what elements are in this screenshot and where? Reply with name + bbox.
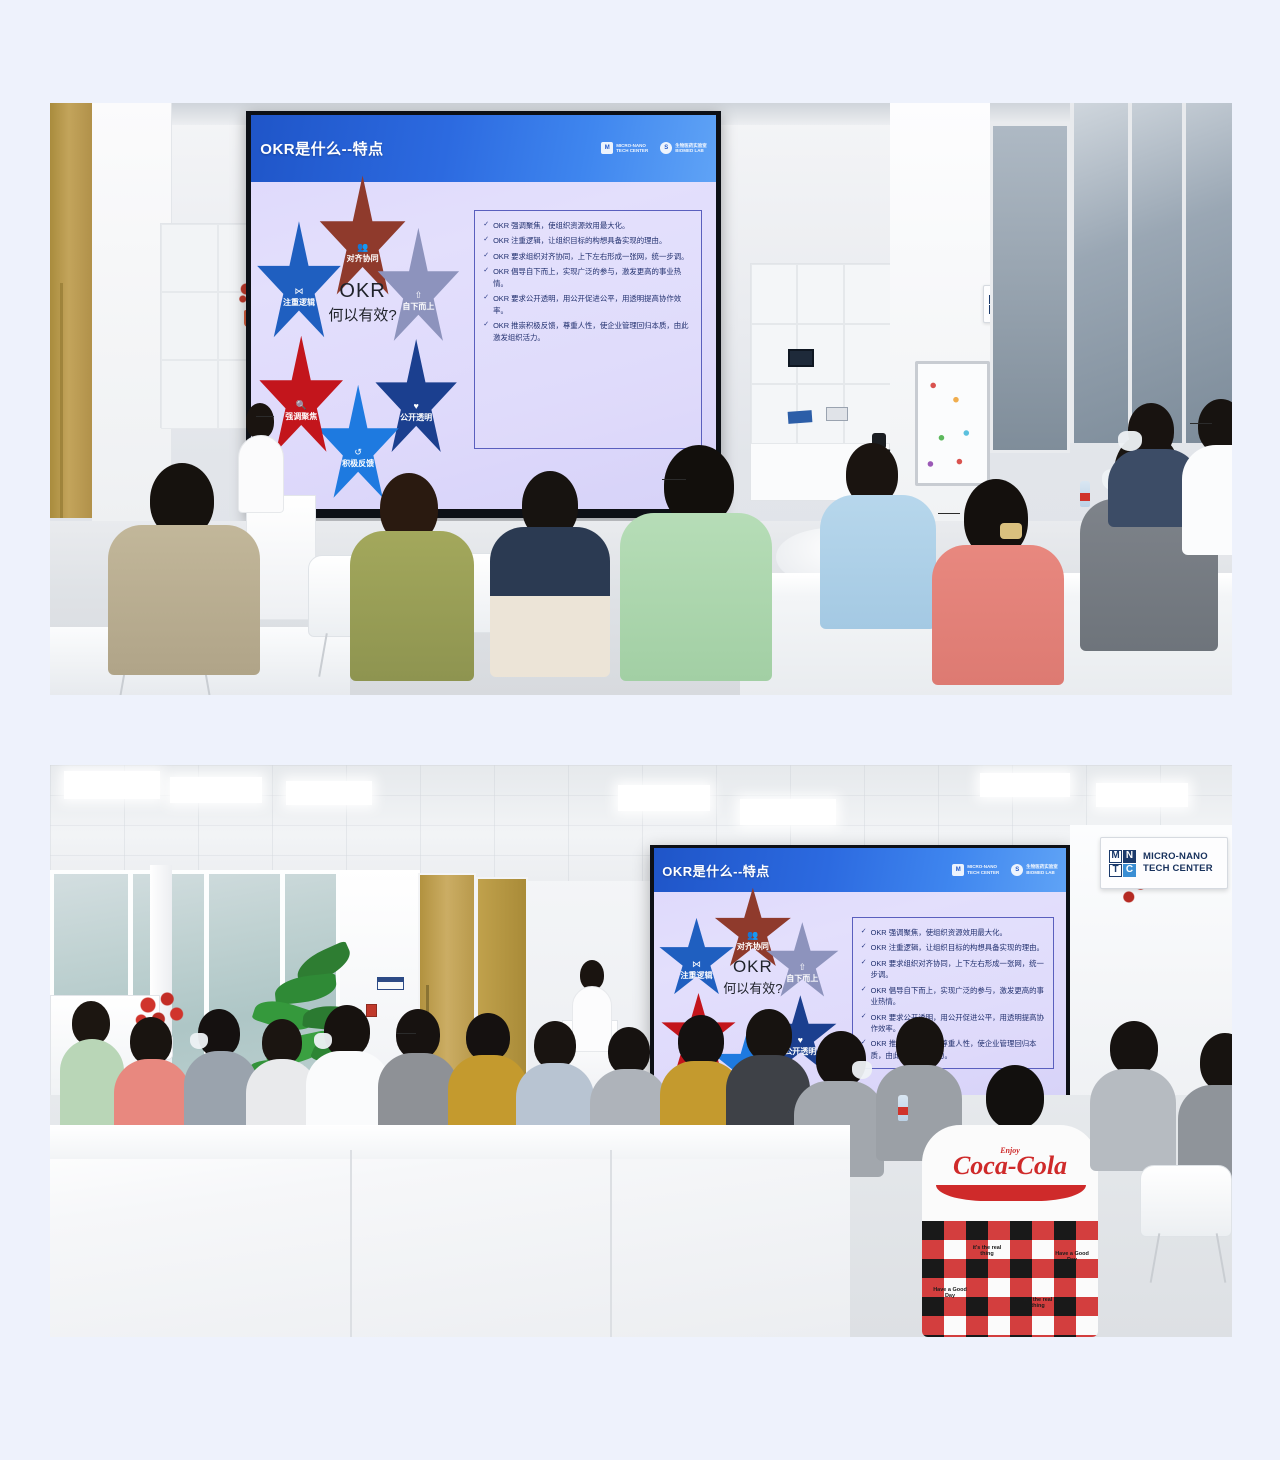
face-mask bbox=[1118, 431, 1142, 451]
jacket-tagline: Have a Good Day bbox=[1054, 1251, 1090, 1264]
coca-cola-logo: Enjoy Coca-Cola bbox=[930, 1147, 1090, 1179]
attendee-body bbox=[620, 513, 772, 681]
star-diagram-center: OKR 何以有效? bbox=[320, 280, 405, 325]
search-icon: 🔍 bbox=[296, 401, 307, 410]
slide-logo2-line2: BIOMED LAB bbox=[675, 148, 707, 154]
people-icon: 👥 bbox=[357, 243, 368, 252]
jacket-tagline: Have a Good Day bbox=[930, 1287, 970, 1300]
slide-logo-biomed-text: 生物医药实验室 BIOMED LAB bbox=[675, 143, 707, 155]
star-label: 自下而上 bbox=[786, 973, 818, 984]
corridor-sign bbox=[377, 977, 404, 990]
jacket-tagline: it's the real thing bbox=[1018, 1297, 1058, 1310]
glasses-icon bbox=[256, 416, 274, 421]
slide-header-logos: M MICRO-NANO TECH CENTER S 生物医药实验室 bbox=[601, 142, 707, 154]
attendee-body bbox=[108, 525, 260, 675]
bullet-item: ✓ OKR 要求组织对齐协同，上下左右形成一张网，统一步调。 bbox=[861, 958, 1045, 981]
attendee bbox=[820, 443, 936, 627]
checkerboard-pattern bbox=[922, 1221, 1098, 1337]
attendee-body bbox=[490, 527, 610, 677]
face-mask bbox=[314, 1033, 332, 1049]
bullet-text: OKR 倡导自下而上，实现广泛的参与，激发更高的事业热情。 bbox=[493, 266, 693, 289]
bullet-text: OKR 要求组织对齐协同，上下左右形成一张网，统一步调。 bbox=[871, 958, 1045, 981]
wooden-door-left bbox=[50, 103, 92, 518]
face-mask bbox=[852, 1061, 872, 1079]
attendee bbox=[114, 1017, 190, 1135]
biomed-mark-icon: S bbox=[660, 142, 672, 154]
ceiling-light bbox=[1096, 783, 1188, 807]
attendee bbox=[620, 445, 772, 675]
attendee-head bbox=[1200, 1033, 1232, 1091]
attendee-head bbox=[678, 1015, 724, 1067]
page-root: M N T C MICRO-NANO TECH CENTER bbox=[0, 0, 1280, 1460]
attendee bbox=[932, 479, 1064, 677]
bullet-text: OKR 推崇积极反馈，尊重人性，使企业管理回归本质，由此激发组织活力。 bbox=[493, 320, 693, 343]
slide-logo-line2: TECH CENTER bbox=[967, 870, 999, 876]
attendee bbox=[108, 463, 260, 673]
brand-text: Coca-Cola bbox=[953, 1151, 1067, 1180]
glasses-icon bbox=[662, 479, 686, 484]
water-bottle bbox=[898, 1095, 908, 1121]
slide-logo2-line2: BIOMED LAB bbox=[1026, 870, 1058, 876]
star-label: 注重逻辑 bbox=[283, 297, 315, 308]
feedback-icon: ↺ bbox=[354, 448, 362, 457]
star-label: 公开透明 bbox=[400, 412, 432, 423]
ceiling-light bbox=[740, 799, 836, 825]
bullet-item: ✓ OKR 注重逻辑，让组织目标的构想具备实现的理由。 bbox=[483, 235, 693, 246]
check-icon: ✓ bbox=[483, 251, 489, 262]
bullet-item: ✓ OKR 注重逻辑，让组织目标的构想具备实现的理由。 bbox=[861, 942, 1045, 953]
chair bbox=[1140, 1165, 1232, 1237]
upload-icon: ⇧ bbox=[799, 963, 807, 972]
attendee-head bbox=[896, 1017, 944, 1071]
mntc-mark-icon: M bbox=[952, 864, 964, 876]
slide-logo-biomed-text: 生物医药实验室 BIOMED LAB bbox=[1026, 864, 1058, 876]
attendee-body bbox=[1182, 445, 1232, 555]
logo-letter-m: M bbox=[1109, 850, 1122, 863]
star-label: 自下而上 bbox=[402, 301, 434, 312]
bullet-text: OKR 强调聚焦，使组织资源效用最大化。 bbox=[871, 927, 1045, 938]
face-mask bbox=[190, 1033, 208, 1049]
venue-sign-text: MICRO-NANO TECH CENTER bbox=[1143, 851, 1213, 875]
attendee-head bbox=[1110, 1021, 1158, 1075]
bullet-text: OKR 要求公开透明，用公开促进公平，用透明提高协作效率。 bbox=[493, 293, 693, 316]
logo-letter-n: N bbox=[1123, 850, 1136, 863]
book-on-shelf bbox=[788, 410, 813, 424]
attendee-head bbox=[608, 1027, 650, 1075]
attendee bbox=[350, 473, 474, 673]
center-line1: OKR bbox=[320, 280, 405, 303]
slide-logo-biomed: S 生物医药实验室 BIOMED LAB bbox=[660, 142, 707, 154]
attendee-head bbox=[466, 1013, 510, 1061]
center-line1: OKR bbox=[715, 957, 790, 977]
glasses-icon bbox=[396, 1033, 416, 1038]
ceiling-light bbox=[286, 781, 372, 805]
slide-header: OKR是什么--特点 M MICRO-NANO TECH CENTER S bbox=[251, 115, 716, 182]
attendee bbox=[378, 1009, 458, 1135]
slide-header: OKR是什么--特点 M MICRO-NANO TECH CENTER S bbox=[654, 848, 1066, 892]
center-line2: 何以有效? bbox=[715, 978, 790, 997]
slide-title: OKR是什么--特点 bbox=[260, 138, 383, 159]
attendee bbox=[1090, 1021, 1176, 1167]
jacket-tagline: it's the real thing bbox=[966, 1245, 1008, 1258]
bullet-item: ✓ OKR 强调聚焦，使组织资源效用最大化。 bbox=[861, 927, 1045, 938]
bullet-text: OKR 注重逻辑，让组织目标的构想具备实现的理由。 bbox=[871, 942, 1045, 953]
check-icon: ✓ bbox=[861, 985, 867, 1008]
attendee bbox=[490, 471, 610, 671]
star-label: 积极反馈 bbox=[342, 458, 374, 469]
attendee-body bbox=[932, 545, 1064, 685]
slide-logo-biomed: S 生物医药实验室 BIOMED LAB bbox=[1011, 864, 1058, 876]
star-label: 对齐协同 bbox=[737, 941, 769, 952]
slide-bullets-box: ✓ OKR 强调聚焦，使组织资源效用最大化。 ✓ OKR 注重逻辑，让组织目标的… bbox=[474, 210, 702, 449]
upload-icon: ⇧ bbox=[415, 291, 423, 300]
mntc-logo-icon: M N T C bbox=[1109, 850, 1136, 877]
water-bottle bbox=[1080, 481, 1090, 507]
heart-icon: ♥ bbox=[413, 402, 418, 411]
picture-frame bbox=[788, 349, 814, 367]
attendee-head bbox=[130, 1017, 172, 1065]
slide-header-logos: M MICRO-NANO TECH CENTER S 生物医药实验室 bbox=[952, 864, 1058, 876]
slide-title: OKR是什么--特点 bbox=[662, 861, 770, 880]
ceiling-light bbox=[980, 773, 1070, 797]
venue-sign-line1: MICRO-NANO bbox=[1143, 851, 1213, 863]
check-icon: ✓ bbox=[483, 293, 489, 316]
photo-training-room-closeup: M N T C MICRO-NANO TECH CENTER bbox=[50, 103, 1232, 695]
bullet-text: OKR 强调聚焦，使组织资源效用最大化。 bbox=[493, 220, 693, 231]
bullet-item: ✓ OKR 要求公开透明，用公开促进公平，用透明提高协作效率。 bbox=[483, 293, 693, 316]
ceiling-light bbox=[618, 785, 710, 811]
bullet-text: OKR 要求组织对齐协同，上下左右形成一张网，统一步调。 bbox=[493, 251, 693, 262]
hair-clip bbox=[1000, 523, 1022, 539]
venue-sign-line2: TECH CENTER bbox=[1143, 863, 1213, 875]
glass-door bbox=[990, 123, 1070, 453]
people-icon: 👥 bbox=[747, 931, 758, 940]
logic-icon: ⋈ bbox=[294, 287, 303, 296]
star-diagram-center: OKR 何以有效? bbox=[715, 957, 790, 997]
star-label: 强调聚焦 bbox=[285, 411, 317, 422]
bullet-item: ✓ OKR 要求组织对齐协同，上下左右形成一张网，统一步调。 bbox=[483, 251, 693, 262]
coca-cola-jacket: Enjoy Coca-Cola it's the real thing Have… bbox=[922, 1125, 1098, 1337]
mntc-mark-icon: M bbox=[601, 142, 613, 154]
attendee-body bbox=[820, 495, 936, 629]
star-gongkai-touming: ♥ 公开透明 bbox=[374, 339, 459, 463]
center-line2: 何以有效? bbox=[320, 304, 405, 325]
bullet-text: OKR 注重逻辑，让组织目标的构想具备实现的理由。 bbox=[493, 235, 693, 246]
dynamic-ribbon bbox=[936, 1185, 1086, 1201]
attendee-head bbox=[746, 1009, 792, 1061]
bullet-text: OKR 倡导自下而上，实现广泛的参与，激发更高的事业热情。 bbox=[871, 985, 1045, 1008]
slide-logo-mntc: M MICRO-NANO TECH CENTER bbox=[601, 142, 648, 154]
presenter-head bbox=[246, 403, 274, 439]
check-icon: ✓ bbox=[861, 958, 867, 981]
slide-logo-line2: TECH CENTER bbox=[616, 148, 648, 154]
star-label: 对齐协同 bbox=[347, 253, 379, 264]
desk-surface bbox=[50, 1125, 850, 1159]
slide-logo-mntc-text: MICRO-NANO TECH CENTER bbox=[967, 864, 999, 876]
check-icon: ✓ bbox=[483, 266, 489, 289]
logo-letter-t: T bbox=[1109, 864, 1122, 877]
attendee-body bbox=[350, 531, 474, 681]
attendee bbox=[1182, 399, 1232, 549]
check-icon: ✓ bbox=[483, 220, 489, 231]
attendee-head bbox=[534, 1021, 576, 1069]
book-on-shelf bbox=[826, 407, 848, 421]
attendee-head bbox=[986, 1065, 1044, 1129]
logic-icon: ⋈ bbox=[692, 960, 701, 969]
check-icon: ✓ bbox=[861, 927, 867, 938]
slide-logo-mntc: M MICRO-NANO TECH CENTER bbox=[952, 864, 999, 876]
glasses-icon bbox=[1190, 423, 1212, 428]
bullet-item: ✓ OKR 倡导自下而上，实现广泛的参与，激发更高的事业热情。 bbox=[483, 266, 693, 289]
slide-logo-mntc-text: MICRO-NANO TECH CENTER bbox=[616, 143, 648, 155]
attendee-body bbox=[1090, 1069, 1176, 1171]
window-right bbox=[1070, 103, 1232, 443]
photo-training-room-wide: OKR是什么--特点 M MICRO-NANO TECH CENTER S bbox=[50, 765, 1232, 1337]
check-icon: ✓ bbox=[483, 235, 489, 246]
bullet-item: ✓ OKR 推崇积极反馈，尊重人性，使企业管理回归本质，由此激发组织活力。 bbox=[483, 320, 693, 343]
logo-letter-c: C bbox=[1123, 864, 1136, 877]
star-label: 注重逻辑 bbox=[681, 970, 713, 981]
ceiling-light bbox=[170, 777, 262, 803]
check-icon: ✓ bbox=[483, 320, 489, 343]
bullet-item: ✓ OKR 倡导自下而上，实现广泛的参与，激发更高的事业热情。 bbox=[861, 985, 1045, 1008]
glasses-icon bbox=[938, 513, 960, 518]
bullet-item: ✓ OKR 强调聚焦，使组织资源效用最大化。 bbox=[483, 220, 693, 231]
biomed-mark-icon: S bbox=[1011, 864, 1023, 876]
check-icon: ✓ bbox=[861, 942, 867, 953]
attendee-head bbox=[324, 1005, 370, 1057]
venue-sign-mntc: M N T C MICRO-NANO TECH CENTER bbox=[1100, 837, 1228, 889]
ceiling-light bbox=[64, 771, 160, 799]
